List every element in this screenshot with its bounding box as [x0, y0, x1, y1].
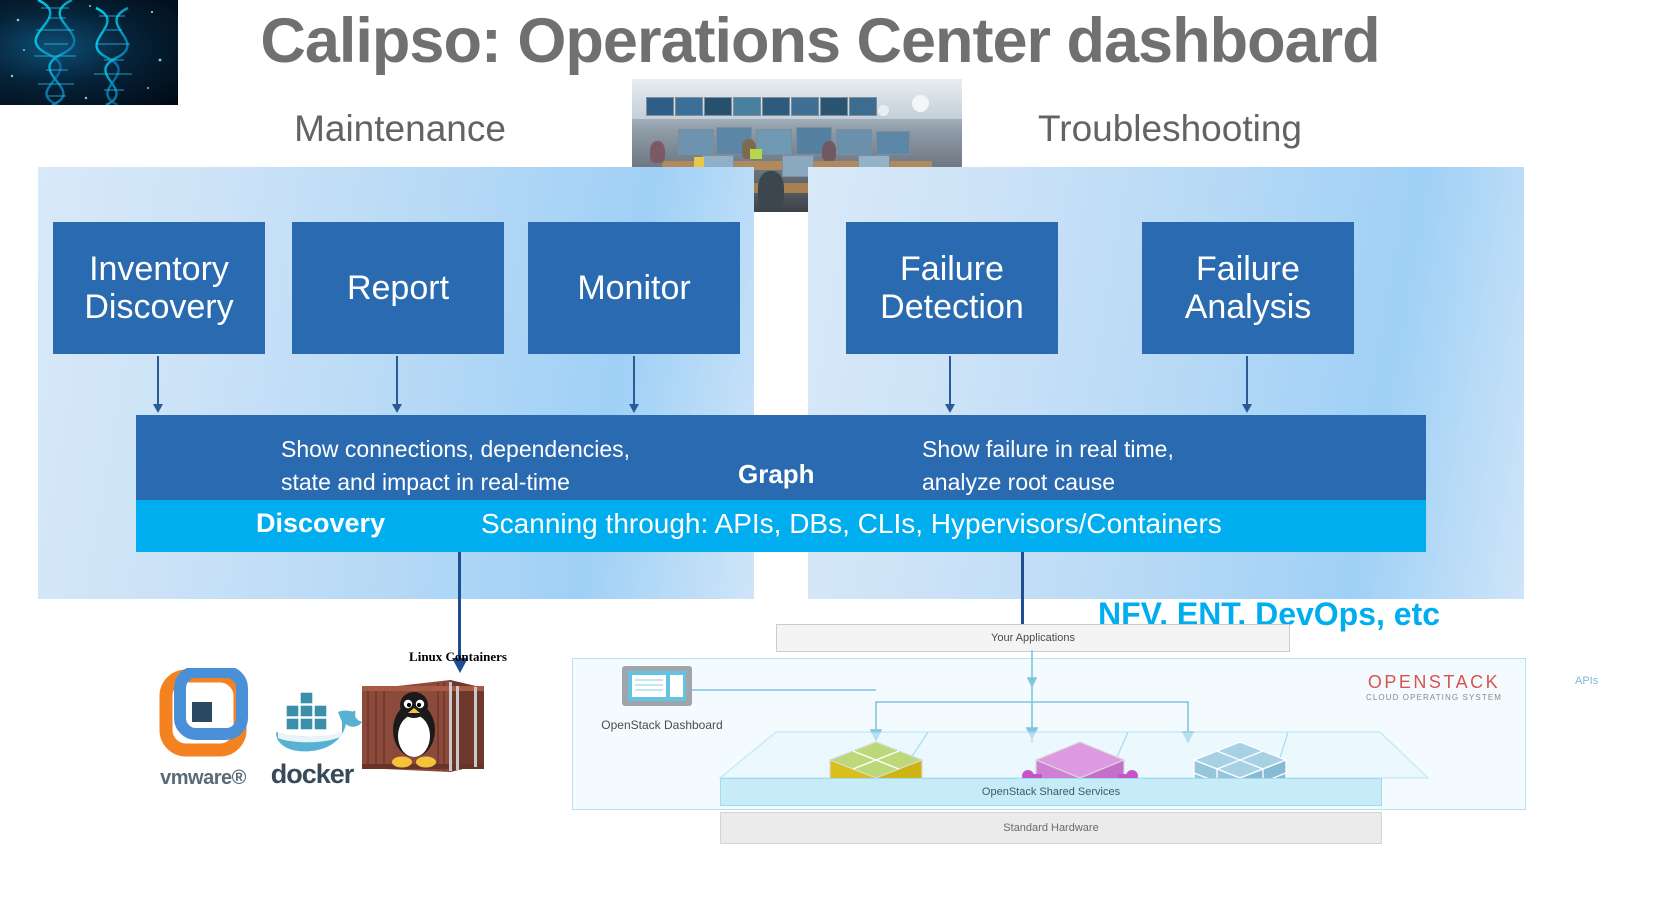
- linux-containers-label: Linux Containers: [378, 649, 538, 665]
- function-box-monitor[interactable]: Monitor: [528, 222, 740, 354]
- box-label-line1: Report: [347, 269, 449, 307]
- openstack-shared-services-bar: OpenStack Shared Services: [720, 778, 1382, 806]
- docker-logo: docker: [256, 672, 368, 790]
- graph-left-line2: state and impact in real-time: [281, 469, 570, 495]
- box-label-line1: Monitor: [577, 269, 690, 307]
- graph-layer-bar: Show connections, dependencies, state an…: [136, 415, 1426, 500]
- function-box-failure-analysis[interactable]: Failure Analysis: [1142, 222, 1354, 354]
- openstack-dashboard-icon: [620, 664, 696, 712]
- column-caption-maintenance: Maintenance: [230, 108, 570, 150]
- function-box-failure-detection[interactable]: Failure Detection: [846, 222, 1058, 354]
- box-label-line2: Detection: [880, 288, 1024, 326]
- column-caption-troubleshooting: Troubleshooting: [1000, 108, 1340, 150]
- openstack-architecture-diagram: Your Applications OPENSTACK CLOUD OPERAT…: [568, 620, 1528, 901]
- graph-right-line1: Show failure in real time,: [922, 436, 1174, 462]
- graph-right-description: Show failure in real time, analyze root …: [922, 433, 1174, 498]
- function-box-report[interactable]: Report: [292, 222, 504, 354]
- openstack-apis-label: APIs: [1575, 675, 1598, 687]
- dna-logo-image: [0, 0, 178, 105]
- vmware-logo: vmware®: [158, 668, 248, 790]
- graph-right-line2: analyze root cause: [922, 469, 1115, 495]
- shared-services-label: OpenStack Shared Services: [982, 786, 1120, 798]
- box-label-line2: Analysis: [1185, 288, 1312, 326]
- discovery-scanning-text: Scanning through: APIs, DBs, CLIs, Hyper…: [481, 508, 1222, 540]
- vmware-wordmark: vmware®: [158, 767, 248, 790]
- docker-wordmark: docker: [256, 759, 368, 790]
- page-title: Calipso: Operations Center dashboard: [175, 2, 1465, 80]
- openstack-dashboard-label: OpenStack Dashboard: [592, 718, 732, 732]
- discovery-layer-bar: Discovery Scanning through: APIs, DBs, C…: [136, 500, 1426, 552]
- graph-left-line1: Show connections, dependencies,: [281, 436, 630, 462]
- box-label-line1: Failure: [1196, 250, 1300, 288]
- discovery-label: Discovery: [256, 508, 385, 539]
- linux-container-image: [358, 672, 488, 780]
- standard-hardware-label: Standard Hardware: [1003, 822, 1098, 834]
- function-box-inventory-discovery[interactable]: Inventory Discovery: [53, 222, 265, 354]
- standard-hardware-bar: Standard Hardware: [720, 812, 1382, 844]
- box-label-line2: Discovery: [84, 288, 233, 326]
- graph-left-description: Show connections, dependencies, state an…: [281, 433, 630, 498]
- box-label-line1: Failure: [900, 250, 1004, 288]
- graph-label: Graph: [738, 459, 815, 490]
- box-label-line1: Inventory: [89, 250, 229, 288]
